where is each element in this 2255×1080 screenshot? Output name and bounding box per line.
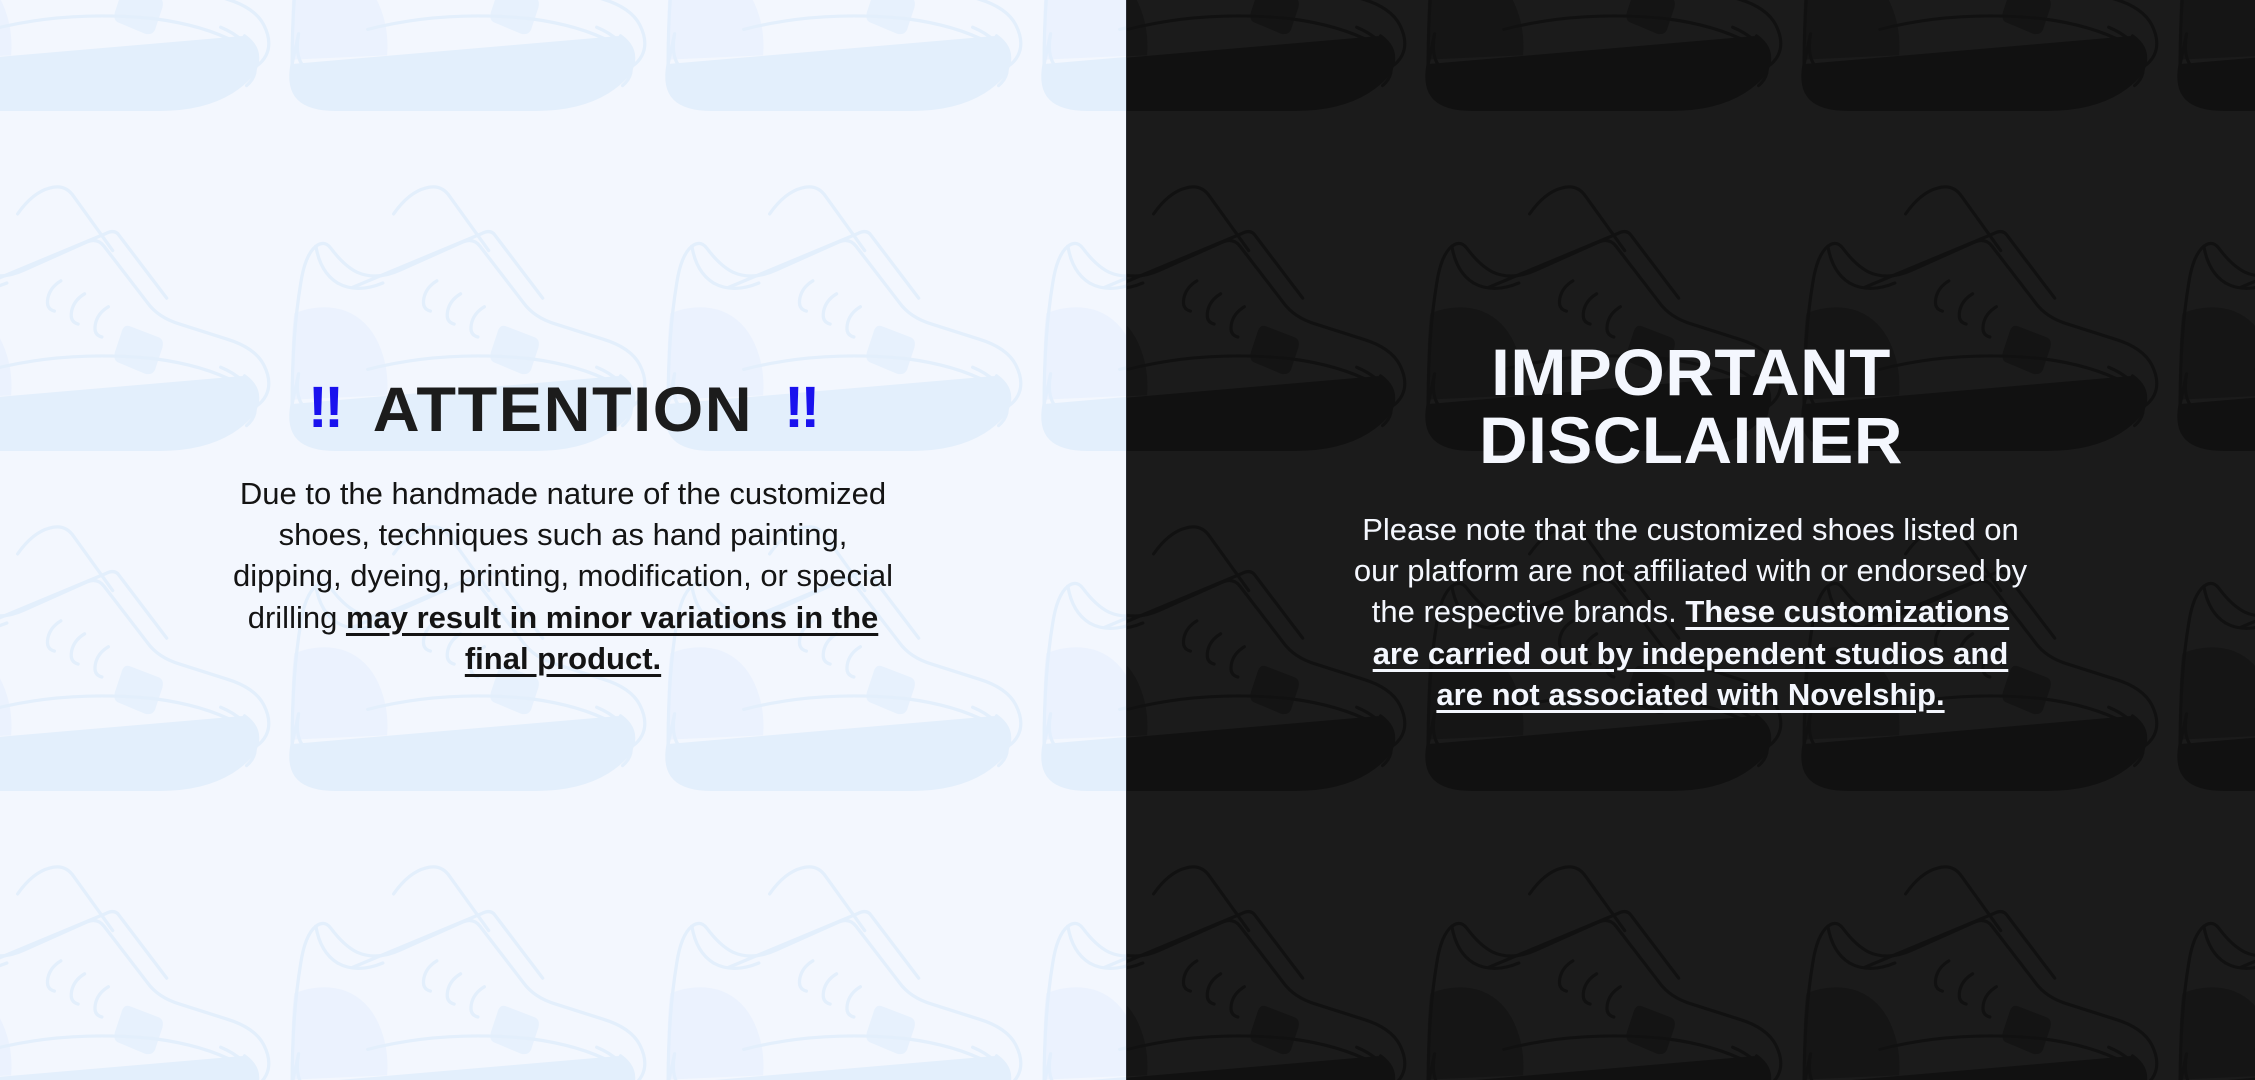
double-exclamation-icon-right: ‼ [784, 379, 818, 437]
attention-panel: ‼ ATTENTION ‼ Due to the handmade nature… [0, 0, 1126, 1080]
disclaimer-heading: IMPORTANT DISCLAIMER [1283, 339, 2099, 475]
double-exclamation-icon-left: ‼ [308, 379, 342, 437]
dual-notice-banner: ‼ ATTENTION ‼ Due to the handmade nature… [0, 0, 2255, 1080]
attention-heading: ‼ ATTENTION ‼ [156, 379, 970, 442]
attention-body-emphasis: may result in minor variations in the fi… [346, 600, 878, 676]
attention-content: ‼ ATTENTION ‼ Due to the handmade nature… [168, 379, 958, 679]
disclaimer-panel: IMPORTANT DISCLAIMER Please note that th… [1126, 0, 2255, 1080]
disclaimer-content: IMPORTANT DISCLAIMER Please note that th… [1291, 339, 2091, 715]
disclaimer-heading-line-2: DISCLAIMER [1283, 407, 2099, 475]
disclaimer-body: Please note that the customized shoes li… [1291, 509, 2091, 715]
panel-divider [1126, 0, 1127, 1080]
disclaimer-heading-line-1: IMPORTANT [1283, 339, 2099, 407]
attention-body: Due to the handmade nature of the custom… [168, 473, 958, 679]
attention-heading-word: ATTENTION [373, 379, 753, 442]
